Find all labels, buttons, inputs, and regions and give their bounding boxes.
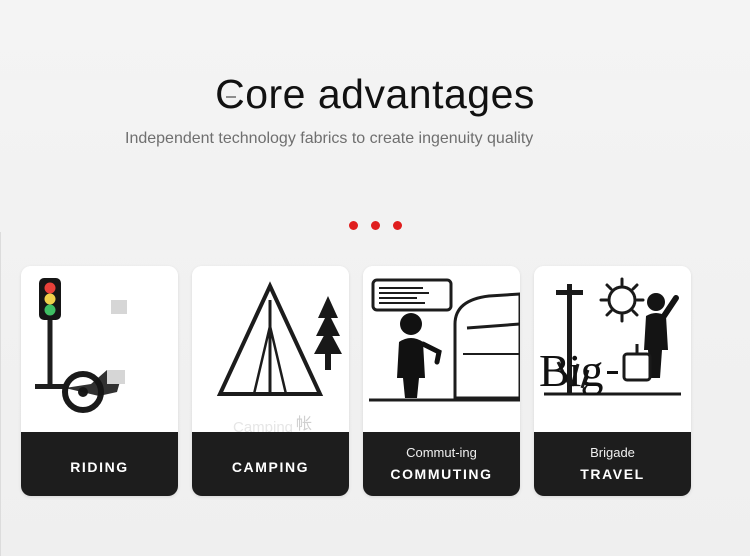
card-label-en-riding: RIDING [70,459,129,475]
carousel-dot-1[interactable] [349,221,358,230]
card-travel[interactable]: Big 行 Brigade TRAVEL [534,266,691,496]
person-and-train-icon [363,266,520,432]
image-artifact-1 [111,300,127,314]
title-underline-mark [226,96,236,98]
card-overlay-dash-travel [607,371,618,374]
card-footer-commuting: Commut-ing COMMUTING [363,432,520,496]
page-background: Core advantages Independent technology f… [0,0,750,556]
image-artifact-2 [107,370,125,384]
card-overlay-text-travel: Big [539,344,602,397]
carousel-dots[interactable] [0,221,750,230]
card-overlay-mark-riding: ′ [104,413,107,430]
card-label-en-camping: CAMPING [232,459,309,475]
card-label-cn-travel: Brigade [590,446,635,460]
card-footer-riding: RIDING [21,432,178,496]
camping-illustration [192,266,349,432]
commuting-illustration [363,266,520,432]
card-label-en-travel: TRAVEL [580,466,645,482]
card-overlay-mark-camping: 帐 [296,410,312,434]
carousel-dot-2[interactable] [371,221,380,230]
card-label-en-commuting: COMMUTING [390,466,492,482]
card-camping[interactable]: Camping 帐 CAMPING [192,266,349,496]
tent-and-pine-tree-icon [192,266,349,432]
traffic-light-and-motorcycle-icon [21,266,178,432]
card-footer-camping: CAMPING [192,432,349,496]
card-riding[interactable]: Ride ′ RIDING [21,266,178,496]
card-label-cn-commuting: Commut-ing [406,446,477,460]
card-commuting[interactable]: Commut-ing COMMUTING [363,266,520,496]
left-divider [0,232,1,556]
carousel-dot-3[interactable] [393,221,402,230]
riding-illustration [21,266,178,432]
page-subtitle: Independent technology fabrics to create… [125,128,625,150]
page-title: Core advantages [0,71,750,118]
card-footer-travel: Brigade TRAVEL [534,432,691,496]
advantage-cards: Ride ′ RIDING Camping 帐 [21,266,731,496]
